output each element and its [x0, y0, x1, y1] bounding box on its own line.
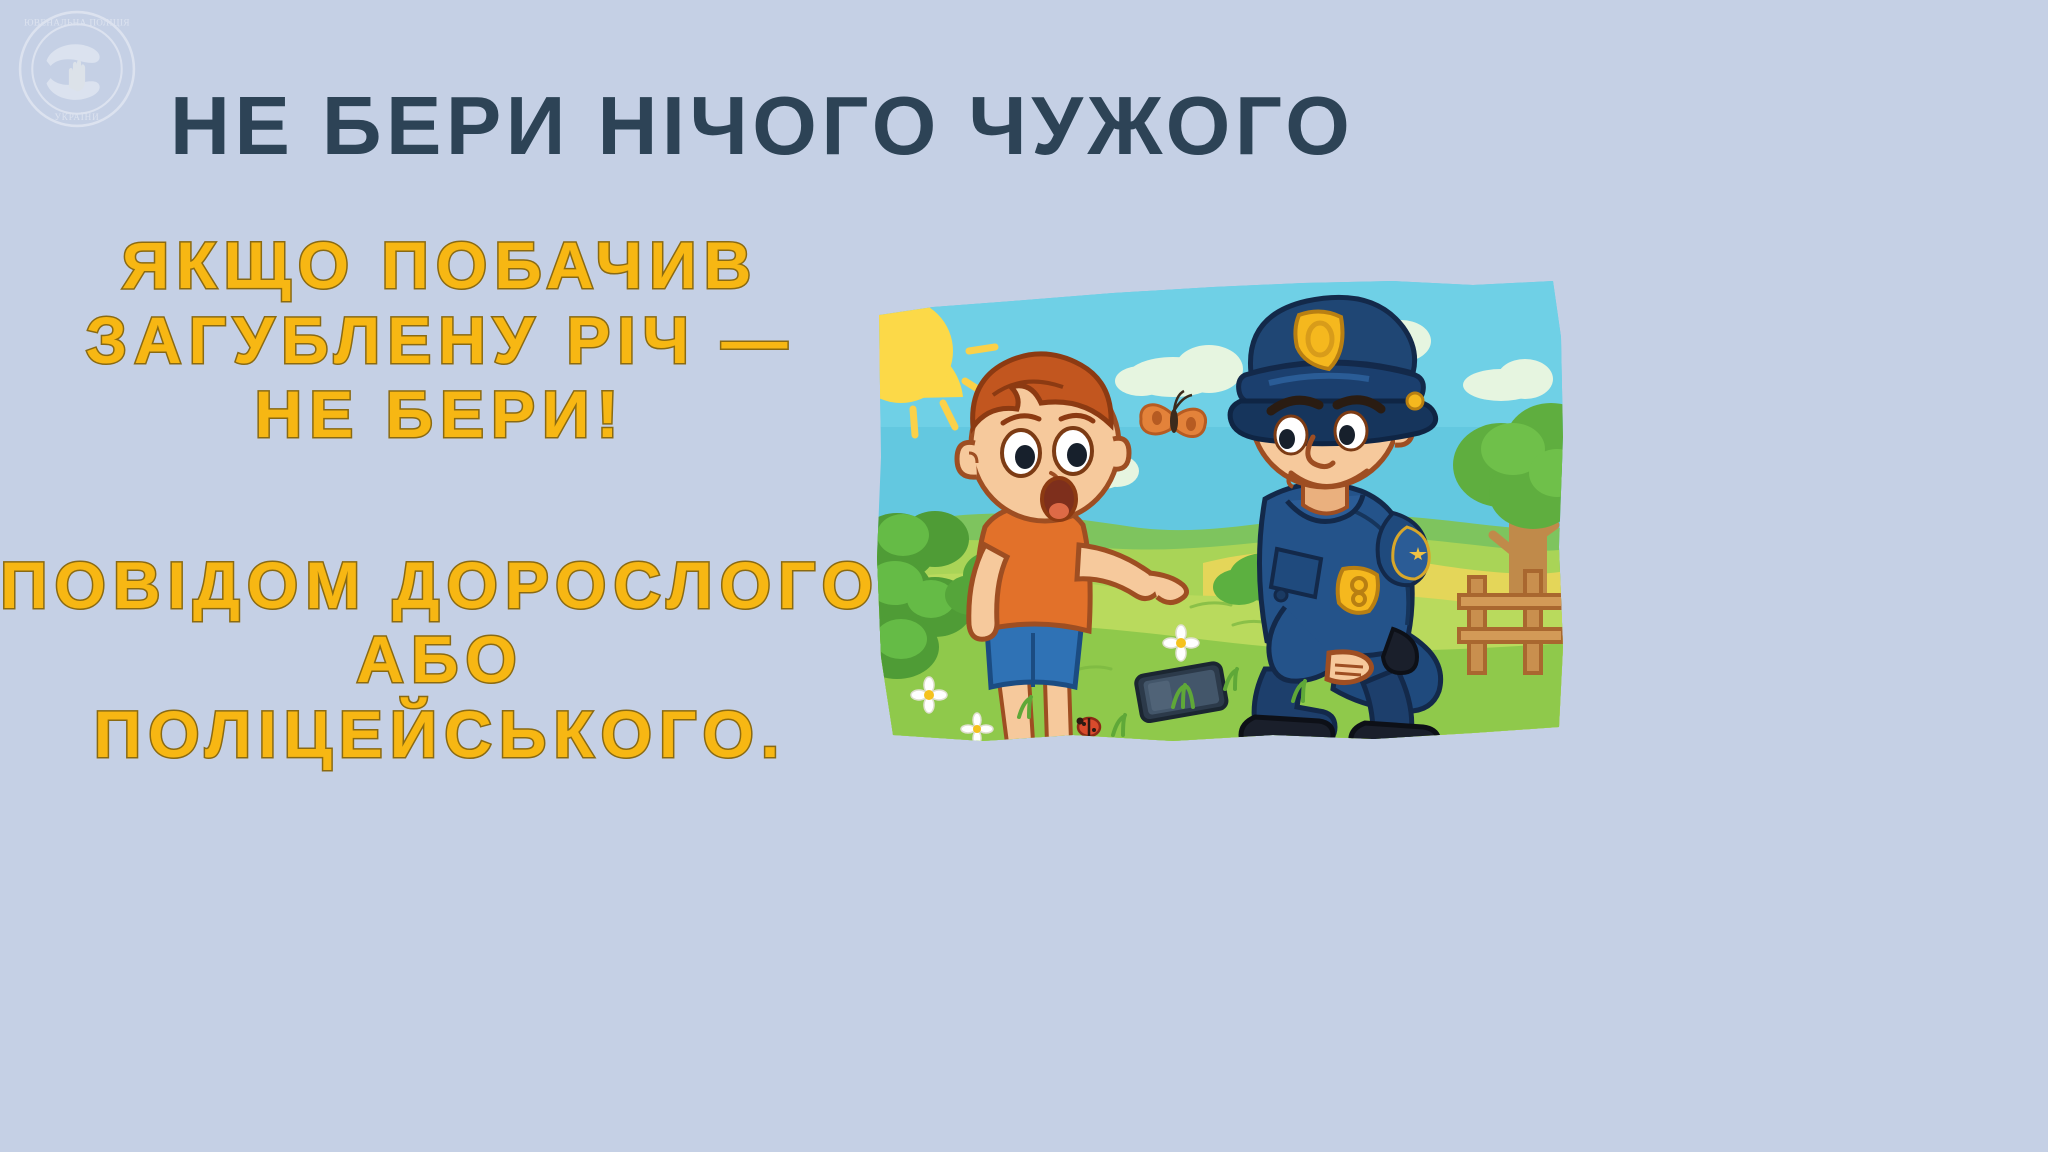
message-line: НЕ БЕРИ! [0, 377, 880, 452]
message-copy: ЯКЩО ПОБАЧИВ ЗАГУБЛЕНУ РІЧ — НЕ БЕРИ! ПО… [0, 228, 880, 771]
ladybug [1077, 718, 1101, 737]
message-line: АБО [0, 622, 880, 697]
message-line: ЯКЩО ПОБАЧИВ [0, 228, 880, 303]
message-block-two: ПОВІДОМ ДОРОСЛОГО АБО ПОЛІЦЕЙСЬКОГО. [0, 548, 880, 772]
svg-text:УКРАЇНИ: УКРАЇНИ [55, 112, 100, 122]
message-line: ПОВІДОМ ДОРОСЛОГО [0, 548, 880, 623]
illustration-boy-and-policeman [873, 277, 1566, 759]
svg-text:ЮВЕНАЛЬНА ПОЛІЦІЯ: ЮВЕНАЛЬНА ПОЛІЦІЯ [24, 17, 130, 27]
page-title: НЕ БЕРИ НІЧОГО ЧУЖОГО [170, 84, 1870, 167]
police-officer-character [1230, 297, 1441, 755]
message-line: ЗАГУБЛЕНУ РІЧ — [0, 303, 880, 378]
officer-boot [1241, 717, 1333, 747]
poster-canvas: ЮВЕНАЛЬНА ПОЛІЦІЯ УКРАЇНИ НЕ БЕРИ НІЧОГО… [0, 0, 2048, 1152]
message-block-one: ЯКЩО ПОБАЧИВ ЗАГУБЛЕНУ РІЧ — НЕ БЕРИ! [0, 228, 880, 452]
officer-boot-2 [1351, 723, 1439, 755]
boy-shoes [977, 743, 1098, 759]
juvenile-police-emblem-icon: ЮВЕНАЛЬНА ПОЛІЦІЯ УКРАЇНИ [16, 8, 138, 130]
officer-cap-visor [1230, 401, 1436, 444]
message-line: ПОЛІЦЕЙСЬКОГО. [0, 697, 880, 772]
